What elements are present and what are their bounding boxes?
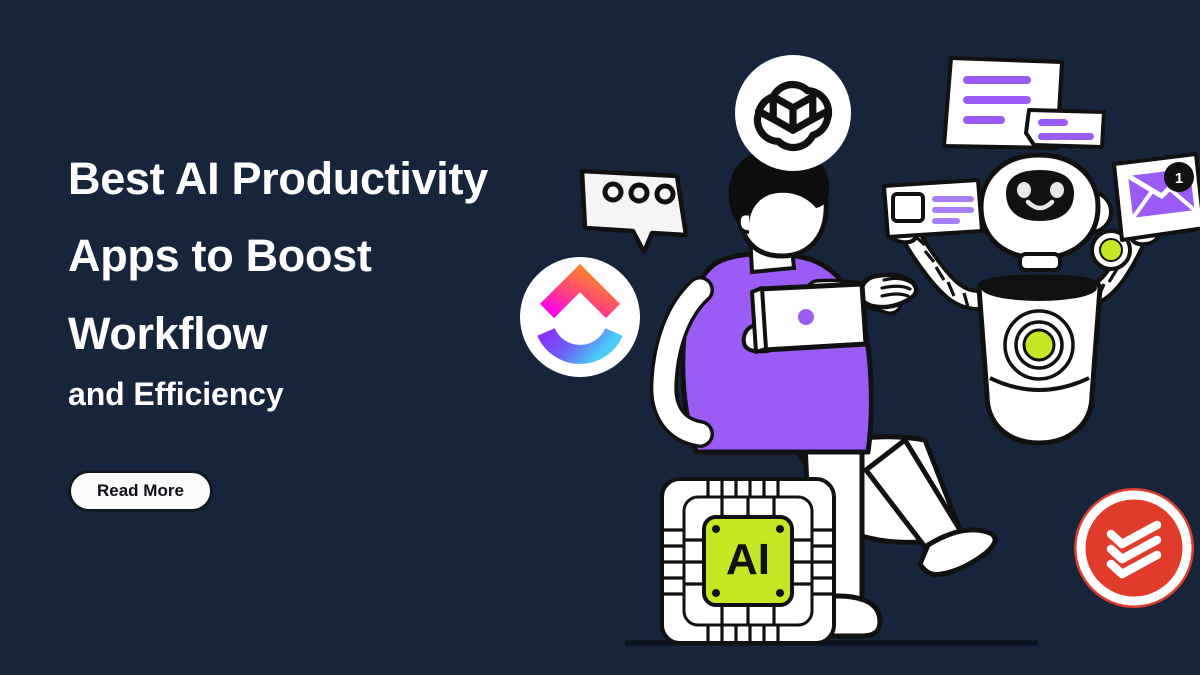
headline-line-1: Best AI Productivity [68, 140, 588, 217]
page-title: Best AI Productivity Apps to Boost Workf… [68, 140, 588, 372]
todoist-logo[interactable] [1073, 487, 1195, 609]
laptop [752, 284, 866, 352]
hero-banner: 1 [0, 0, 1200, 675]
page-subtitle: and Efficiency [68, 376, 588, 413]
robot-eye-left [1017, 182, 1031, 198]
robot-power-button [1024, 330, 1054, 360]
email-badge-count: 1 [1175, 170, 1183, 187]
headline-line-2: Apps to Boost [68, 217, 588, 294]
read-more-button[interactable]: Read More [68, 470, 213, 512]
openai-logo-svg [733, 53, 853, 173]
robot-assistant [890, 155, 1159, 443]
hero-copy: Best AI Productivity Apps to Boost Workf… [68, 140, 588, 413]
message-card-large [944, 58, 1062, 148]
typing-speech-bubble [582, 171, 686, 252]
email-badge: 1 [1164, 162, 1194, 192]
person-right-hand [860, 275, 916, 307]
person-with-laptop [664, 147, 995, 636]
todoist-logo-svg [1073, 487, 1195, 609]
robot-left-arm [890, 218, 978, 307]
robot-right-arm [1072, 220, 1158, 308]
message-card-small [1026, 110, 1104, 147]
envelope-icon [1128, 168, 1195, 217]
ai-chip: AI [662, 479, 834, 643]
laptop-logo-dot [798, 309, 814, 325]
email-card: 1 [1114, 154, 1200, 240]
document-card [884, 180, 982, 237]
openai-logo[interactable] [733, 53, 853, 173]
robot-eye-right [1050, 182, 1064, 198]
robot-smile [1028, 202, 1052, 208]
ai-chip-label: AI [726, 535, 770, 584]
headline-line-3: Workflow [68, 295, 588, 372]
person-left-hand [744, 324, 793, 352]
